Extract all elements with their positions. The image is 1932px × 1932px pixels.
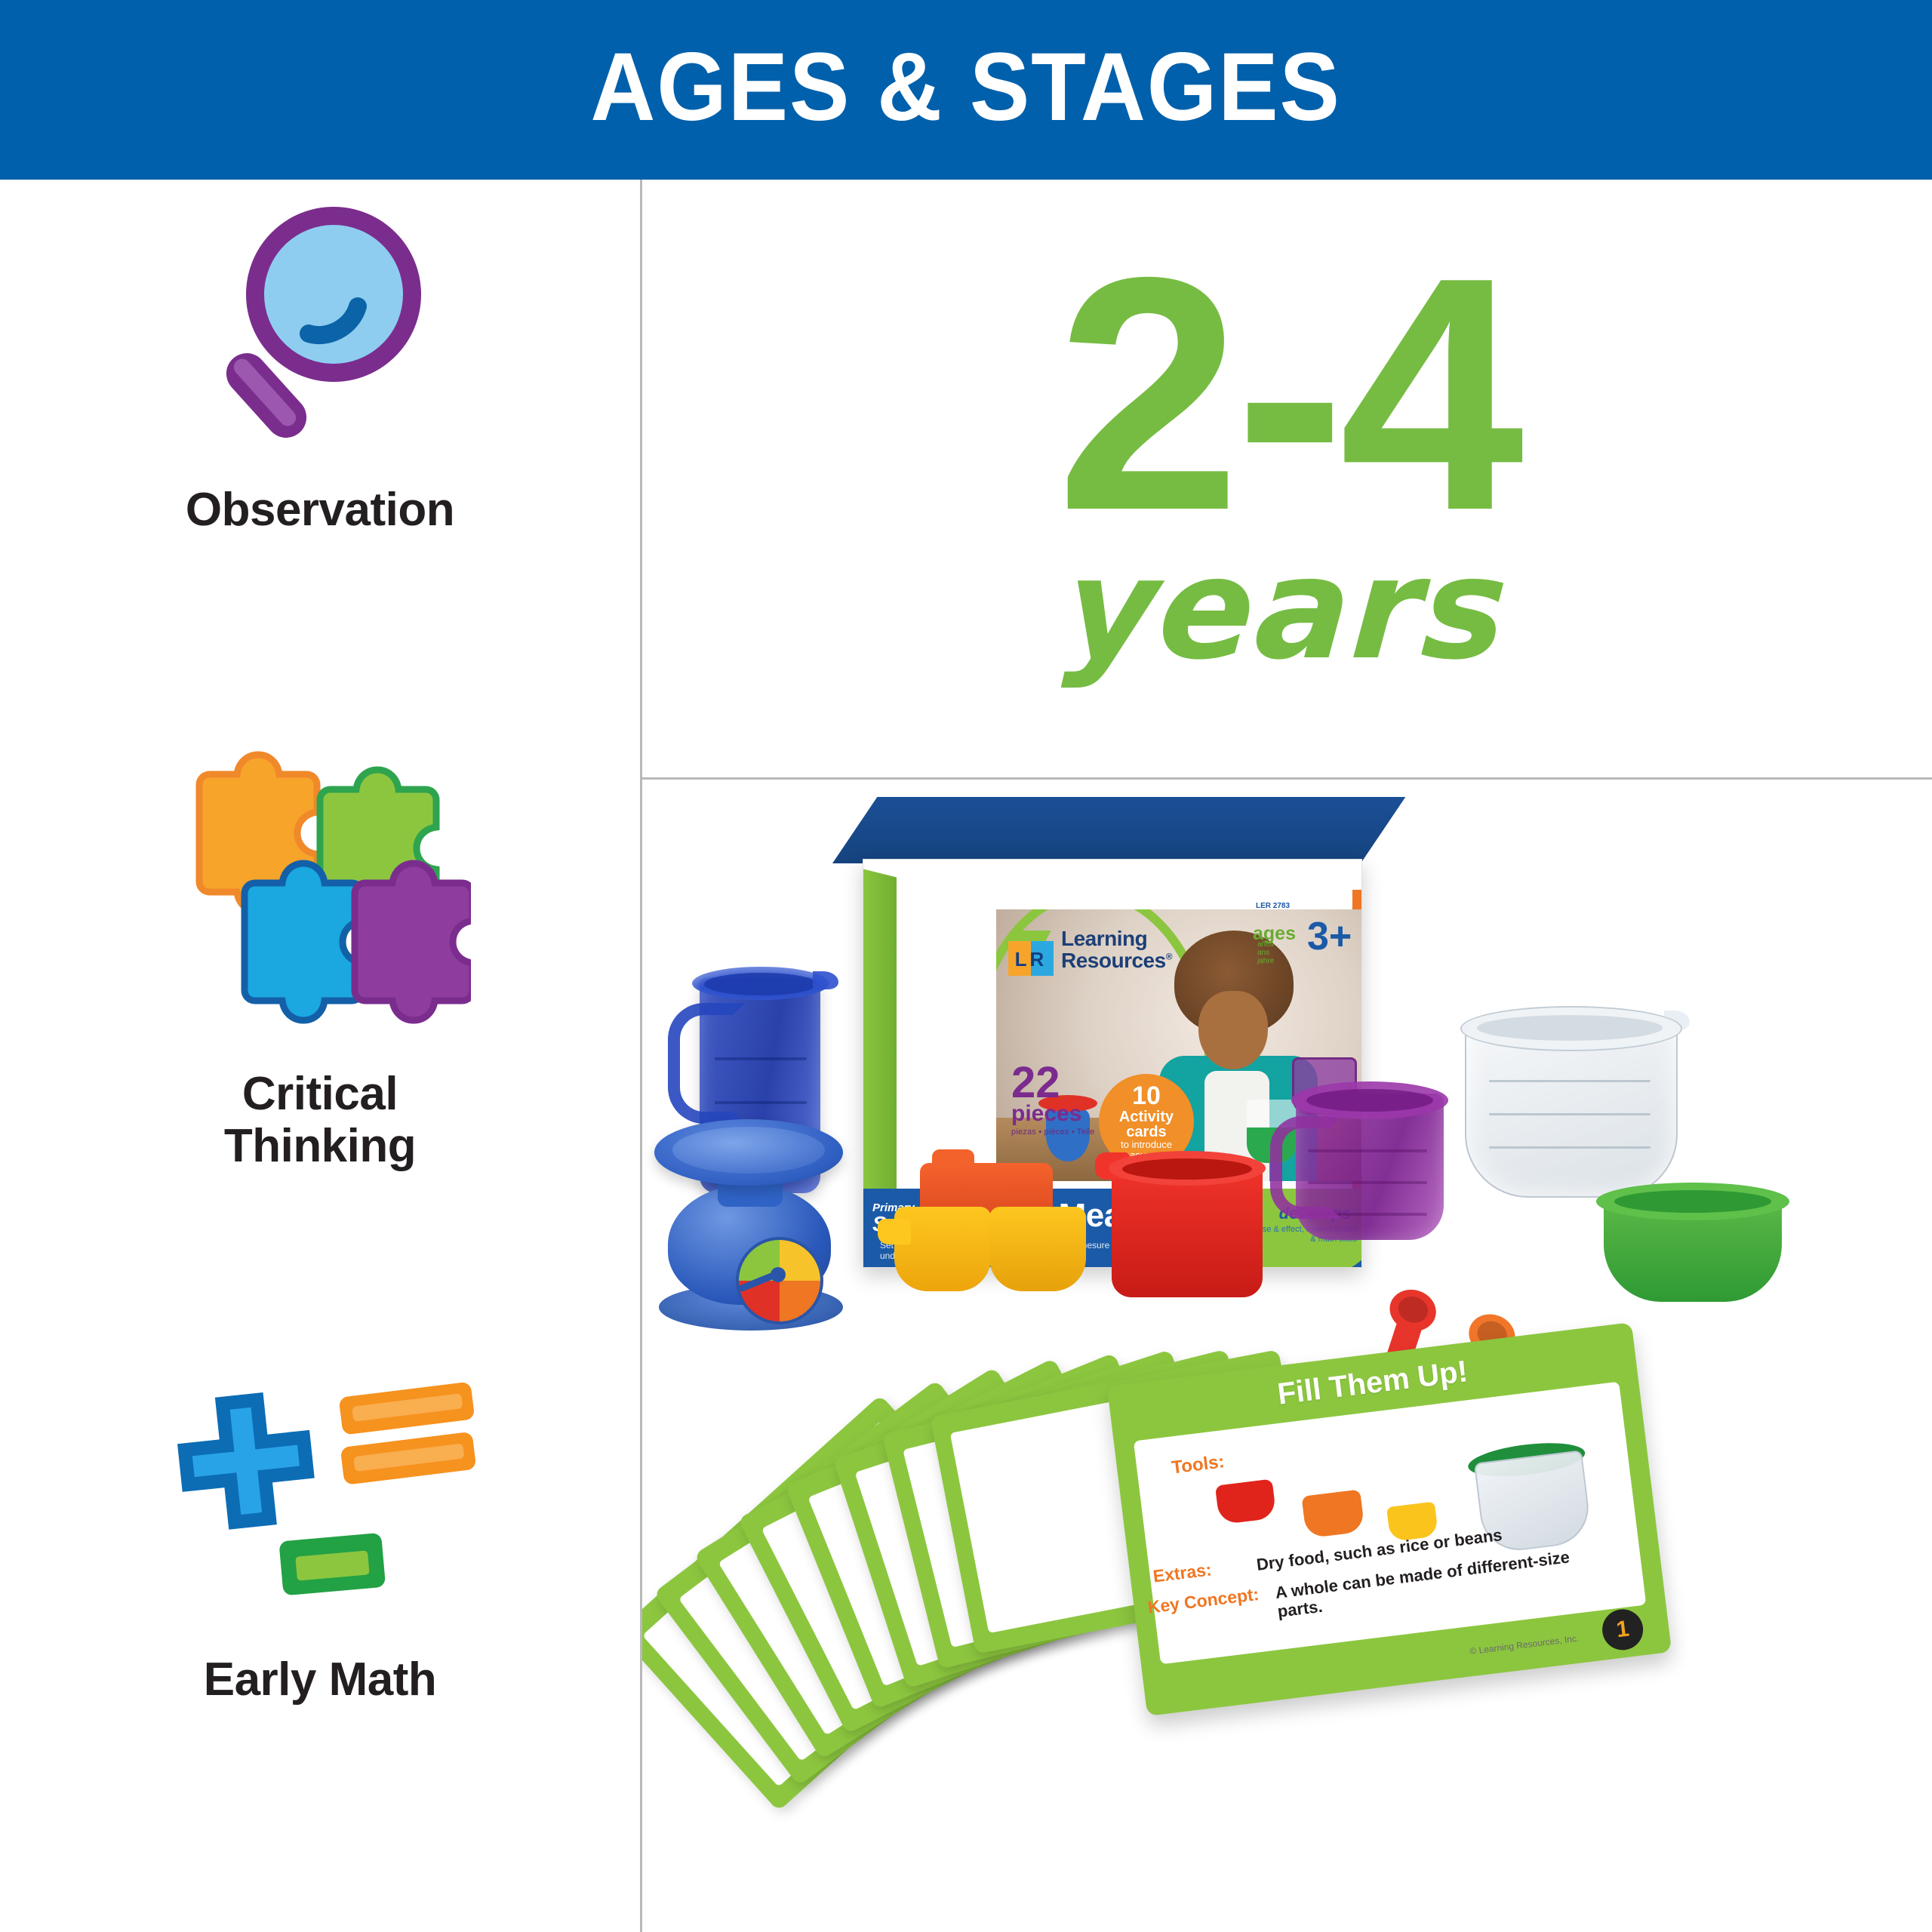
pieces-word: pieces	[1011, 1103, 1095, 1125]
skill-label-early-math: Early Math	[204, 1654, 437, 1706]
pieces-count-block: 22 pieces piezas • pièces • Teile	[1011, 1063, 1095, 1137]
yellow-measuring-cup-right	[989, 1207, 1086, 1291]
purple-cup-handle	[1270, 1116, 1341, 1219]
age-unit: years	[1061, 539, 1512, 679]
ages-badge: ages años ans jahre 3+	[1253, 918, 1351, 962]
green-measuring-bowl	[1596, 1175, 1789, 1311]
clear-bowl-marking	[1489, 1113, 1651, 1115]
red-measuring-cup	[1103, 1140, 1273, 1300]
ages-and-stages-infographic: AGES & STAGES Observation	[0, 0, 1932, 1932]
age-range: 2-4	[1057, 255, 1518, 534]
item-code: LER 2783	[1256, 902, 1290, 910]
purple-cup-rim-inner	[1306, 1089, 1433, 1112]
activity-line1: Activity	[1119, 1109, 1174, 1124]
brand-name: Learning Resources®	[1061, 928, 1172, 972]
hero-child-face	[1198, 991, 1268, 1069]
lr-cube-letters: LR	[1008, 944, 1054, 974]
scale-needle-hub	[771, 1267, 786, 1282]
magnifying-glass-icon	[207, 202, 433, 455]
yellow-cup-handle	[878, 1219, 911, 1244]
ages-translations: años ans jahre	[1257, 941, 1274, 965]
card-copyright: © Learning Resources, Inc.	[1469, 1633, 1580, 1657]
ages-translation-es: años	[1257, 940, 1274, 949]
red-cup-rim-inner	[1122, 1158, 1252, 1180]
pitcher-spout	[813, 971, 838, 989]
card-number-badge: 1	[1600, 1607, 1645, 1652]
clear-bowl-marking	[1489, 1146, 1651, 1149]
skill-early-math: Early Math	[0, 1357, 640, 1706]
activity-count: 10	[1132, 1083, 1161, 1109]
purple-measuring-cup	[1272, 1066, 1460, 1247]
puzzle-pieces-icon	[169, 738, 471, 1029]
header-banner: AGES & STAGES	[0, 0, 1932, 180]
clear-bowl-rim-inner	[1477, 1015, 1663, 1041]
skill-label-critical-thinking: Critical Thinking	[224, 1068, 416, 1173]
registered-mark: ®	[1166, 952, 1172, 962]
ages-translation-fr: ans	[1257, 949, 1269, 957]
activity-line2: cards	[1126, 1124, 1166, 1140]
skill-critical-thinking: Critical Thinking	[0, 738, 640, 1173]
activity-card-front: Fill Them Up! Tools: Extras: Dry food, s…	[1107, 1322, 1672, 1716]
skill-label-line2: Thinking	[224, 1120, 416, 1172]
pieces-count: 22	[1011, 1063, 1095, 1103]
age-panel: 2-4 years	[642, 180, 1932, 777]
learning-resources-logo: LR Learning Resources®	[1008, 928, 1189, 982]
page-title: AGES & STAGES	[591, 39, 1341, 136]
skills-column: Observation Critical Thinking	[0, 180, 640, 1932]
blue-balance-scale	[642, 1119, 869, 1361]
skill-label-line1: Critical	[242, 1068, 398, 1120]
box-top-panel	[832, 797, 1405, 863]
brand-name-line2: Resources	[1061, 949, 1166, 972]
nested-measuring-cups	[882, 1163, 1109, 1314]
pieces-translations: piezas • pièces • Teile	[1011, 1128, 1095, 1137]
lr-cube-icon: LR	[1008, 931, 1054, 977]
clear-bowl-marking	[1489, 1080, 1651, 1082]
activity-card-fan: Le Le Le Le Le Fill Them Up! Tools: Extr…	[733, 1338, 1684, 1836]
skill-label-observation: Observation	[186, 484, 454, 536]
brand-name-line1: Learning	[1061, 927, 1147, 950]
scale-pan-inner	[672, 1127, 825, 1174]
math-symbols-icon	[162, 1357, 478, 1610]
skill-observation: Observation	[0, 202, 640, 536]
pitcher-handle	[668, 1003, 745, 1124]
pitcher-rim-inner	[704, 973, 817, 995]
product-photo-panel: LR Learning Resources® 22 pieces piezas …	[642, 780, 1932, 1932]
ages-value: 3+	[1307, 917, 1352, 956]
ages-translation-de: jahre	[1257, 957, 1274, 965]
green-bowl-rim-inner	[1614, 1190, 1771, 1213]
